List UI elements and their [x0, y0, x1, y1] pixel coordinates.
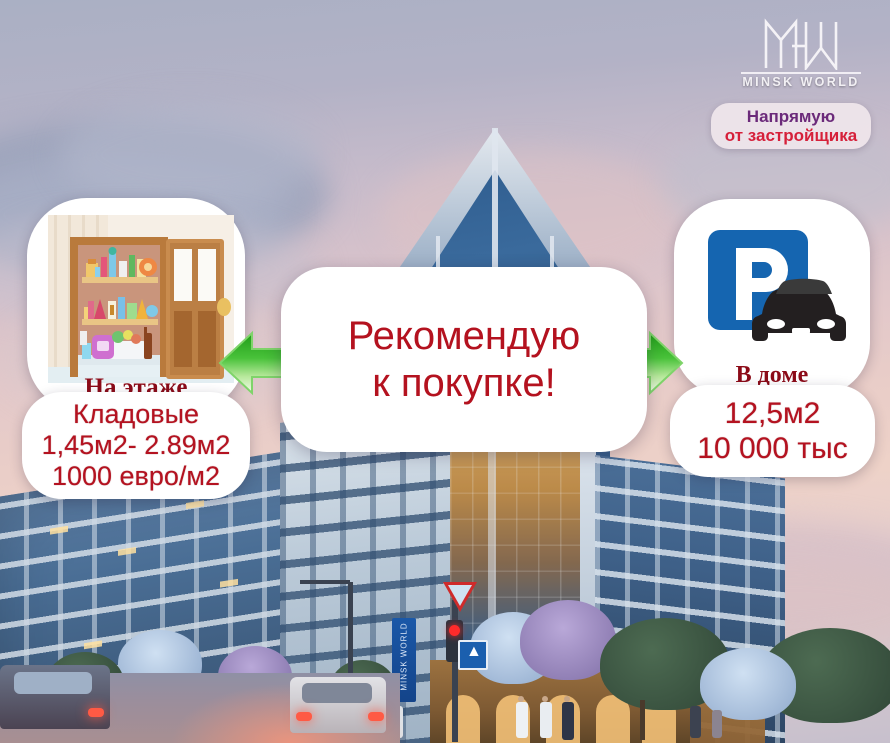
- minsk-world-logo[interactable]: MINSK WORLD: [735, 18, 867, 96]
- direct-badge-line-1: Напрямую: [747, 107, 835, 126]
- promo-poster: MINSK WORLD ▲ Звоните/п: [0, 0, 890, 743]
- storage-line-3: 1000 евро/м2: [52, 461, 220, 492]
- parking-card-details[interactable]: 12,5м2 10 000 тыс: [670, 385, 875, 477]
- parking-line-1: 12,5м2: [725, 396, 821, 431]
- logo-wordmark: MINSK WORLD: [735, 75, 867, 89]
- open-storage-door-icon: [48, 215, 234, 383]
- person: [540, 702, 552, 738]
- person: [562, 702, 574, 740]
- pedestrian-glyph-icon: ▲: [466, 644, 482, 660]
- storage-card-details[interactable]: Кладовые 1,45м2- 2.89м2 1000 евро/м2: [22, 392, 250, 499]
- direct-badge-line-2: от застройщика: [725, 126, 857, 145]
- recommendation-line-1: Рекомендую: [348, 313, 581, 360]
- direct-from-developer-badge[interactable]: Напрямую от застройщика: [711, 103, 871, 149]
- parking-line-2: 10 000 тыс: [697, 431, 847, 466]
- recommendation-line-2: к покупке!: [372, 360, 555, 407]
- parking-sign-icon: [706, 228, 856, 363]
- storage-line-1: Кладовые: [73, 399, 199, 430]
- car: [0, 665, 110, 729]
- person: [516, 702, 528, 738]
- mw-monogram-icon: [762, 18, 840, 70]
- person: [712, 710, 722, 738]
- person: [690, 706, 701, 738]
- recommendation-card[interactable]: Рекомендую к покупке!: [281, 267, 647, 452]
- car: [290, 677, 386, 733]
- logo-rule: [741, 72, 861, 74]
- storage-line-2: 1,45м2- 2.89м2: [42, 430, 231, 461]
